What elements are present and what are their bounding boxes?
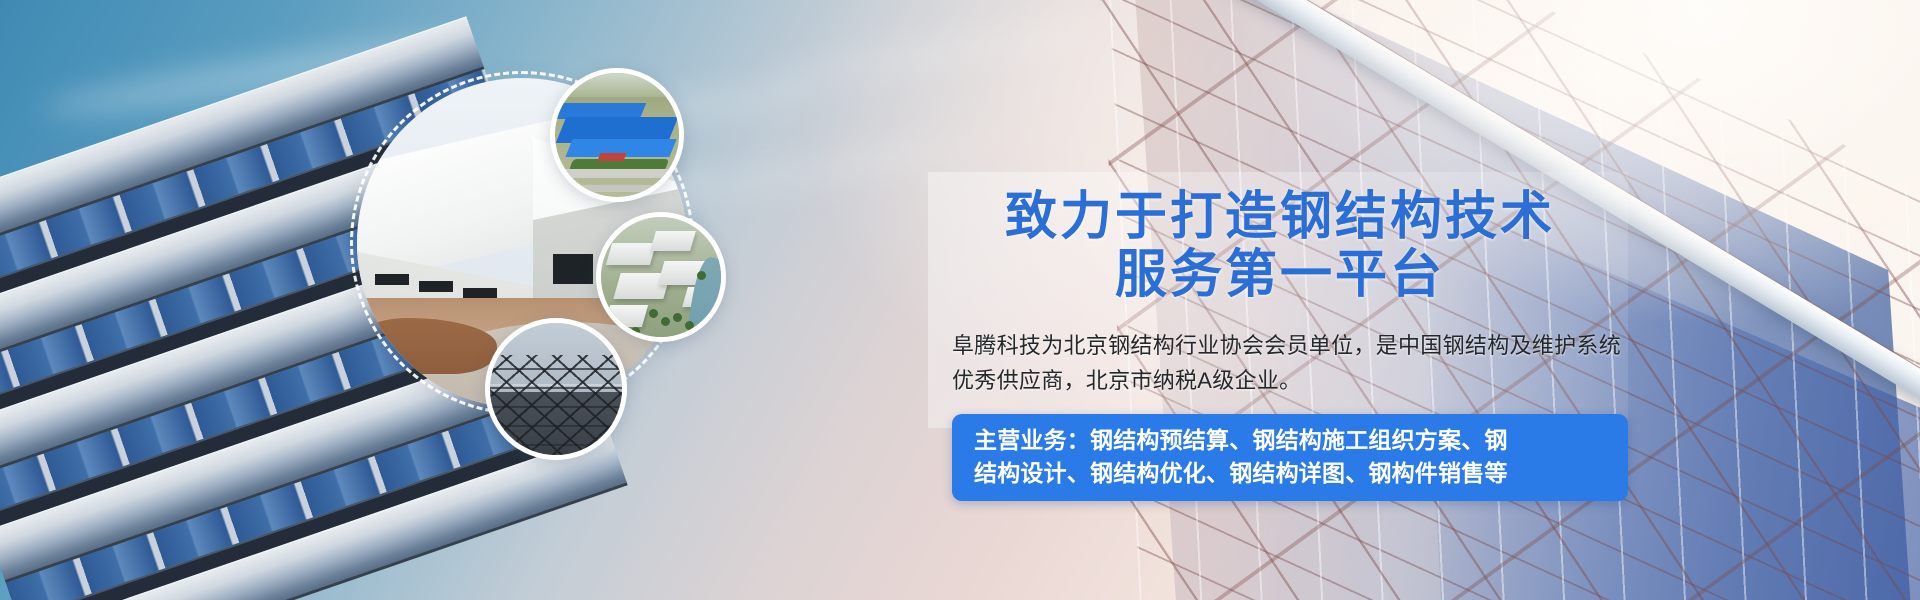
page-title: 致力于打造钢结构技术 服务第一平台 xyxy=(930,188,1630,304)
campus-tree xyxy=(649,309,658,318)
headline-line-2: 服务第一平台 xyxy=(930,246,1630,304)
business-scope-line-1: 主营业务：钢结构预结算、钢结构施工组织方案、钢 xyxy=(974,427,1508,453)
campus-tree xyxy=(631,327,640,336)
thumb-circle-steel-truss[interactable] xyxy=(485,318,627,460)
thumb-circle-factory[interactable] xyxy=(550,68,684,202)
factory-red-court xyxy=(598,153,627,161)
business-scope-line-2: 结构设计、钢结构优化、钢结构详图、钢构件销售等 xyxy=(974,457,1606,490)
factory-road xyxy=(553,169,684,178)
hero-banner: 致力于打造钢结构技术 服务第一平台 阜腾科技为北京钢结构行业协会会员单位，是中国… xyxy=(0,0,1920,600)
factory-horizon xyxy=(555,73,684,97)
intro-paragraph: 阜腾科技为北京钢结构行业协会会员单位，是中国钢结构及维护系统优秀供应商，北京市纳… xyxy=(952,328,1624,398)
truss-space-frame xyxy=(485,355,627,460)
campus-building xyxy=(606,243,656,265)
business-scope-badge: 主营业务：钢结构预结算、钢结构施工组织方案、钢 结构设计、钢结构优化、钢结构详图… xyxy=(952,414,1628,501)
campus-tree xyxy=(661,317,670,326)
campus-tree xyxy=(685,321,694,330)
campus-tree xyxy=(697,271,706,280)
factory-road xyxy=(554,185,684,192)
circle-photo-cluster xyxy=(0,0,900,600)
headline-line-1: 致力于打造钢结构技术 xyxy=(1005,186,1555,247)
campus-building xyxy=(650,231,696,251)
campus-tree xyxy=(673,313,682,322)
